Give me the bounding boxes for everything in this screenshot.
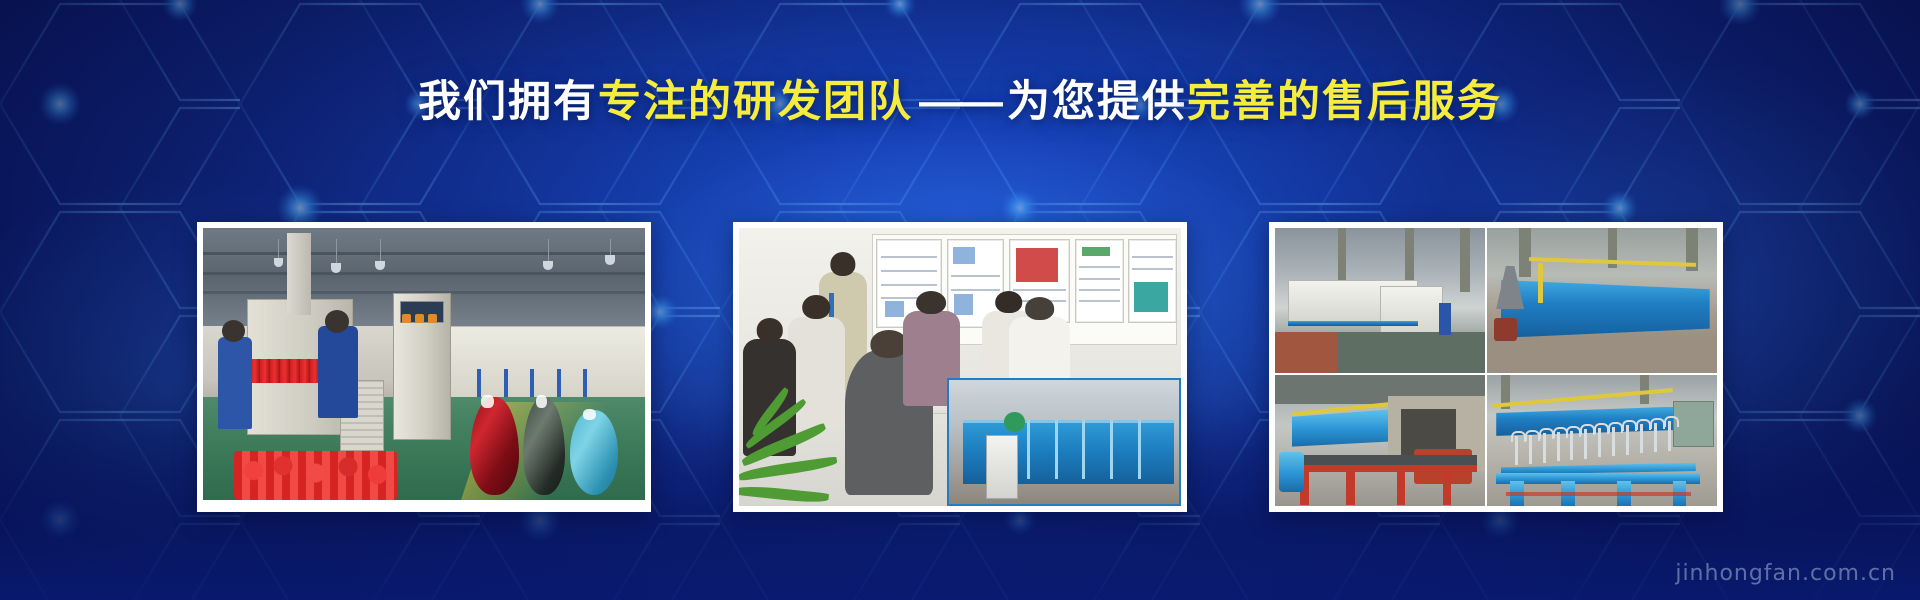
- collage-cell-2: [1487, 228, 1717, 373]
- headline-segment-4: 为您提供: [1007, 78, 1187, 126]
- collage-cell-3: [1275, 375, 1485, 506]
- photo-panel-row: [0, 222, 1920, 512]
- photo-panel-3[interactable]: [1269, 222, 1723, 512]
- photo-2-image: [739, 228, 1181, 506]
- headline-segment-dash: ——: [913, 78, 1007, 126]
- photo-panel-2[interactable]: [733, 222, 1187, 512]
- site-watermark: jinhongfan.com.cn: [1675, 561, 1896, 586]
- promo-banner: 我们拥有专注的研发团队——为您提供完善的售后服务: [0, 0, 1920, 600]
- collage-cell-4: [1487, 375, 1717, 506]
- headline-segment-1: 我们拥有: [418, 78, 598, 126]
- photo-2-inset: [947, 378, 1181, 506]
- headline-segment-2: 专注的研发团队: [598, 78, 913, 126]
- banner-headline: 我们拥有专注的研发团队——为您提供完善的售后服务: [418, 78, 1502, 127]
- headline-container: 我们拥有专注的研发团队——为您提供完善的售后服务: [0, 78, 1920, 127]
- headline-segment-5: 完善的售后服务: [1187, 78, 1502, 126]
- collage-cell-1: [1275, 228, 1485, 373]
- foreground-plant: [739, 395, 845, 506]
- photo-1-image: [203, 228, 645, 500]
- photo-panel-1[interactable]: [197, 222, 651, 512]
- photo-3-image: [1275, 228, 1717, 506]
